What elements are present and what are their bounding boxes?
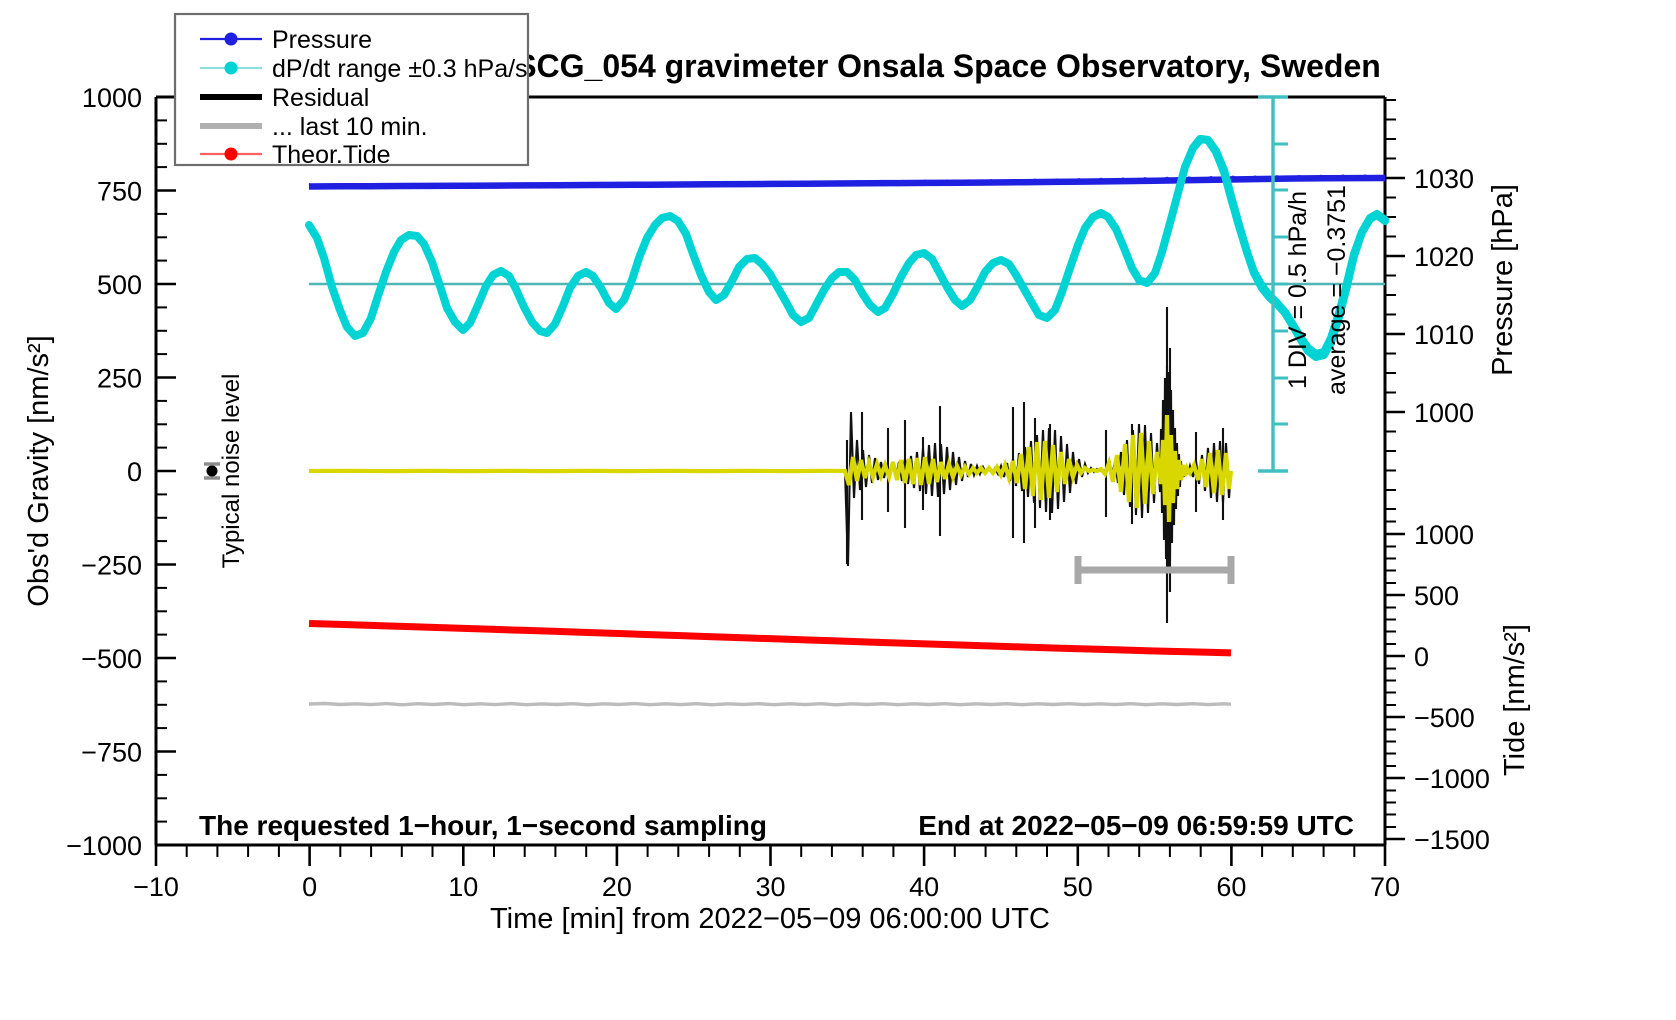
left-tick-label: 750 <box>97 177 142 207</box>
chart-canvas: 1000 750 500 250 0 −250 −500 −750 −1000 … <box>0 0 1676 1020</box>
right-tide-tick-label: −500 <box>1414 703 1475 733</box>
dpdt-scale-label: 1 DIV = 0.5 hPa/h <box>1284 191 1312 389</box>
bottom-tick-label: 0 <box>302 872 317 902</box>
bottom-axis-label: Time [min] from 2022−05−09 06:00:00 UTC <box>490 903 1050 935</box>
bottom-tick-label: 40 <box>909 872 939 902</box>
left-tick-label: −250 <box>81 551 142 581</box>
legend-label: Pressure <box>272 26 372 54</box>
right-tide-tick-label: 0 <box>1414 642 1429 672</box>
left-tick-label: 1000 <box>82 83 142 113</box>
left-tick-label: −500 <box>81 644 142 674</box>
right-pressure-tick-label: 1030 <box>1414 164 1474 194</box>
bottom-tick-label: 10 <box>448 872 478 902</box>
right-tide-axis-label: Tide [nm/s²] <box>1499 624 1531 776</box>
page-title: SCG_054 gravimeter Onsala Space Observat… <box>515 48 1381 84</box>
legend: Pressure dP/dt range ±0.3 hPa/s Residual… <box>175 14 528 169</box>
bottom-tick-label: 20 <box>602 872 632 902</box>
left-tick-label: 250 <box>97 364 142 394</box>
right-pressure-tick-label: 1010 <box>1414 320 1474 350</box>
left-tick-label: 0 <box>127 457 142 487</box>
left-tick-label: −750 <box>81 738 142 768</box>
right-tide-tick-label: 1000 <box>1414 520 1474 550</box>
bottom-tick-label: 50 <box>1063 872 1093 902</box>
legend-label: ... last 10 min. <box>272 113 428 141</box>
series-offset-grey <box>309 704 1231 705</box>
bottom-tick-label: 70 <box>1370 872 1400 902</box>
bottom-tick-label: 60 <box>1216 872 1246 902</box>
right-tide-tick-label: −1000 <box>1414 764 1490 794</box>
legend-label: Residual <box>272 84 369 112</box>
left-tick-label: 500 <box>97 270 142 300</box>
right-tide-tick-label: −1500 <box>1414 825 1490 855</box>
gravimeter-plot: 1000 750 500 250 0 −250 −500 −750 −1000 … <box>0 0 1676 1020</box>
right-pressure-tick-label: 1000 <box>1414 398 1474 428</box>
right-pressure-axis-label: Pressure [hPa] <box>1487 184 1519 376</box>
dpdt-average-label: average = −0.3751 <box>1323 185 1351 395</box>
end-time-annotation: End at 2022−05−09 06:59:59 UTC <box>918 810 1354 841</box>
sampling-annotation: The requested 1−hour, 1−second sampling <box>199 810 767 841</box>
bottom-tick-label: −10 <box>133 872 179 902</box>
bottom-tick-label: 30 <box>755 872 785 902</box>
left-axis-label: Obs'd Gravity [nm/s²] <box>23 335 55 606</box>
right-pressure-tick-label: 1020 <box>1414 242 1474 272</box>
legend-label: Theor.Tide <box>272 141 391 169</box>
right-tide-tick-label: 500 <box>1414 581 1459 611</box>
typical-noise-level-label: Typical noise level <box>218 374 245 569</box>
left-tick-label: −1000 <box>66 831 142 861</box>
legend-label: dP/dt range ±0.3 hPa/s <box>272 55 528 83</box>
